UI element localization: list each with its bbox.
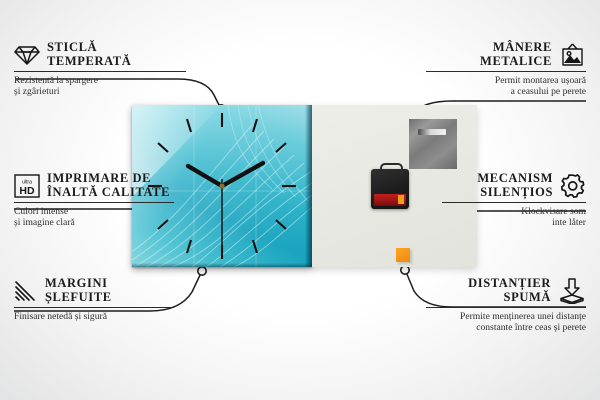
callout-subtitle: Permit montarea ușoară a ceasului pe per… bbox=[426, 75, 586, 97]
callout-subtitle: Rezistentă la spargere și zgârieturi bbox=[14, 75, 186, 97]
callout-subtitle: Klockvisare som inte låter bbox=[442, 206, 586, 228]
callout-rule bbox=[442, 202, 586, 203]
endpoint-dot-polished-edges bbox=[198, 267, 206, 275]
callout-subtitle: Finisare netedă și sigură bbox=[14, 311, 174, 322]
callout-title: MECANISM SILENȚIOS bbox=[477, 172, 553, 199]
svg-text:HD: HD bbox=[19, 185, 35, 197]
hanger-slot bbox=[418, 129, 446, 135]
diamond-icon bbox=[14, 44, 40, 66]
callout-rule bbox=[426, 307, 586, 308]
hatch-lines-icon bbox=[14, 280, 38, 302]
callout-rule bbox=[14, 71, 186, 72]
callout-hd-print: ultra HD IMPRIMARE DE ÎNALTĂ CALITATE Cu… bbox=[14, 172, 174, 228]
callout-silent-mechanism: MECANISM SILENȚIOS Klockvisare som inte … bbox=[442, 172, 586, 228]
callout-title: MARGINI ȘLEFUITE bbox=[45, 277, 112, 304]
hour-hand bbox=[188, 166, 222, 186]
callout-rule bbox=[14, 307, 174, 308]
infographic-canvas: STICLĂ TEMPERATĂ Rezistentă la spargere … bbox=[0, 0, 600, 400]
callout-title: STICLĂ TEMPERATĂ bbox=[47, 41, 131, 68]
callout-polished-edges: MARGINI ȘLEFUITE Finisare netedă și sigu… bbox=[14, 277, 174, 322]
minute-hand bbox=[222, 163, 263, 186]
clock-right-edge bbox=[305, 105, 312, 267]
callout-rule bbox=[426, 71, 586, 72]
callout-subtitle: Culori intense și imagine clară bbox=[14, 206, 174, 228]
callout-tempered-glass: STICLĂ TEMPERATĂ Rezistentă la spargere … bbox=[14, 41, 186, 97]
callout-title: DISTANȚIER SPUMĂ bbox=[468, 277, 551, 304]
callout-foam-spacer: DISTANȚIER SPUMĂ Permite menținerea unei… bbox=[426, 277, 586, 333]
callout-title: IMPRIMARE DE ÎNALTĂ CALITATE bbox=[47, 172, 170, 199]
picture-hanger-icon bbox=[559, 43, 586, 67]
movement-hook bbox=[380, 163, 403, 175]
callout-rule bbox=[14, 202, 174, 203]
gear-icon bbox=[560, 173, 586, 199]
clock-bottom-edge bbox=[132, 263, 312, 267]
ultra-hd-icon: ultra HD bbox=[14, 174, 40, 198]
callout-title: MÂNERE METALICE bbox=[480, 41, 552, 68]
foam-spacer-pad bbox=[396, 248, 410, 262]
battery-terminal bbox=[398, 195, 404, 204]
callout-metal-handles: MÂNERE METALICE Permit montarea ușoară a… bbox=[426, 41, 586, 97]
hands-hub bbox=[219, 183, 224, 188]
callout-subtitle: Permite menținerea unei distanțe constan… bbox=[426, 311, 586, 333]
quartz-movement bbox=[371, 169, 409, 209]
battery bbox=[374, 194, 406, 206]
endpoint-dot-foam-spacer bbox=[401, 266, 409, 274]
metal-hanger-plate bbox=[409, 119, 457, 169]
arrow-press-icon bbox=[558, 278, 586, 304]
